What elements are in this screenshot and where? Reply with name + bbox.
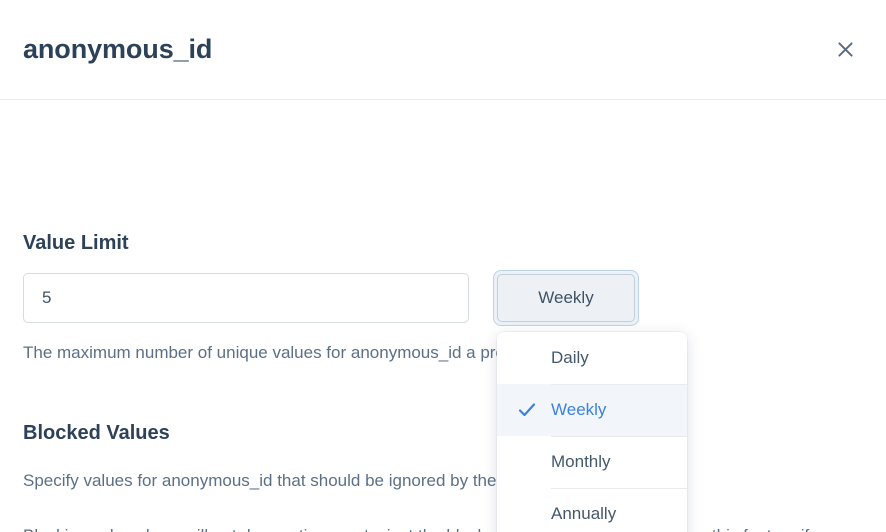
value-limit-field-row (23, 273, 469, 323)
period-select-button[interactable]: Weekly (497, 274, 635, 322)
dropdown-option-label: Weekly (551, 400, 606, 420)
blocked-values-paragraph-1: Specify values for anonymous_id that sho… (23, 468, 873, 494)
dropdown-option-monthly[interactable]: Monthly (497, 436, 687, 488)
modal-header: anonymous_id (0, 0, 886, 100)
blocked-values-paragraph-2: Blocking values here will not drop entir… (23, 520, 868, 532)
value-limit-help-text: The maximum number of unique values for … (23, 340, 868, 366)
anonymous-id-modal: anonymous_id Value Limit Weekly The maxi… (0, 0, 886, 532)
period-dropdown-menu: Daily Weekly Monthly Annually (497, 332, 687, 532)
period-select-wrapper: Weekly (493, 270, 639, 326)
value-limit-label: Value Limit (23, 230, 129, 256)
dropdown-option-label: Monthly (551, 452, 611, 472)
value-limit-input[interactable] (23, 273, 469, 323)
dropdown-option-label: Annually (551, 504, 616, 524)
dropdown-option-label: Daily (551, 348, 589, 368)
dropdown-option-weekly[interactable]: Weekly (497, 384, 687, 436)
blocked-values-label: Blocked Values (23, 420, 170, 446)
dropdown-option-daily[interactable]: Daily (497, 332, 687, 384)
close-icon-glyph (837, 41, 854, 58)
dropdown-option-annually[interactable]: Annually (497, 488, 687, 532)
check-icon (517, 400, 537, 420)
page-title: anonymous_id (23, 31, 212, 67)
close-icon[interactable] (832, 36, 858, 62)
